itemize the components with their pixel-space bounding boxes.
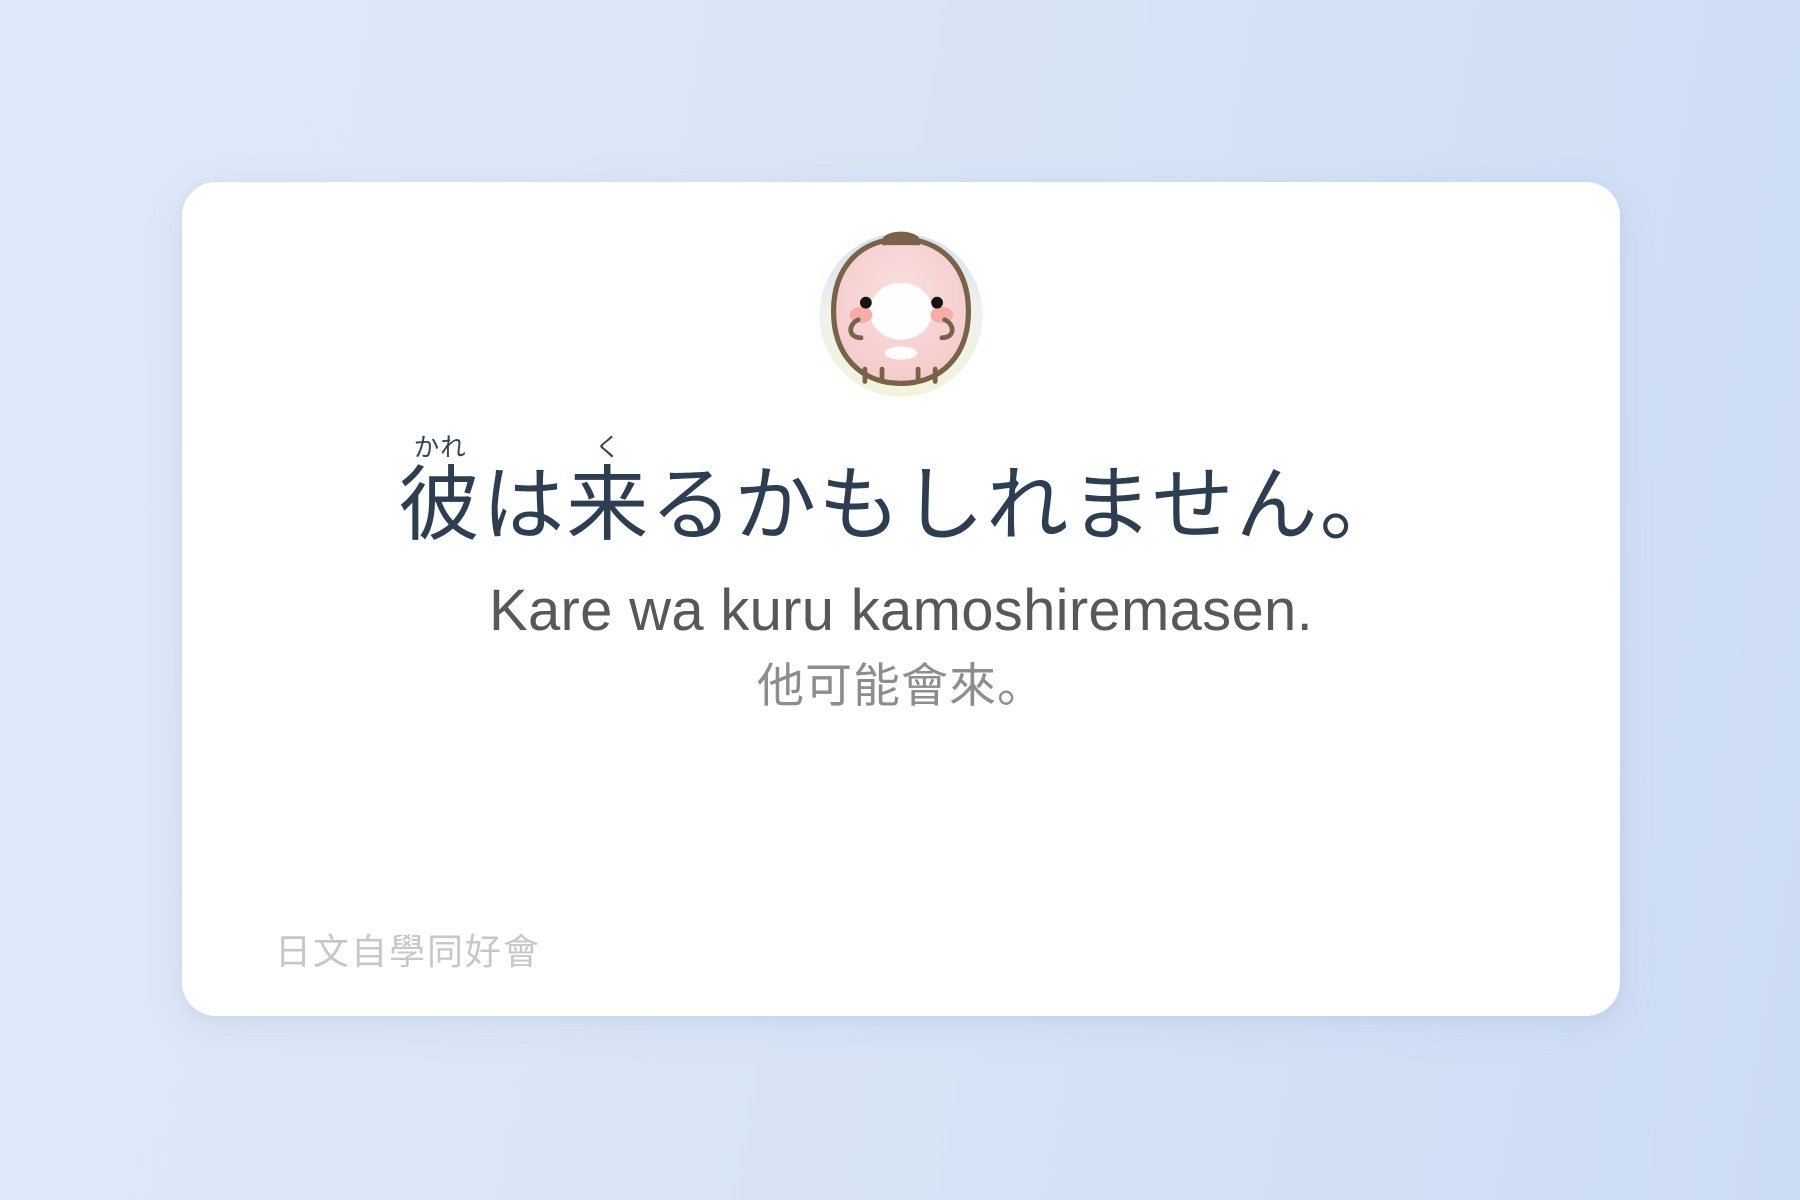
- mascot-container: [182, 220, 1620, 410]
- flashcard: 彼かれは来くるかもしれません。 Kare wa kuru kamoshirema…: [182, 182, 1620, 1016]
- pink-blob-mascot-icon: [806, 220, 996, 410]
- ruby-ku: 来く: [566, 460, 650, 551]
- romaji-reading: Kare wa kuru kamoshiremasen.: [182, 582, 1620, 640]
- ruby-kare: 彼かれ: [398, 460, 482, 551]
- translation-text: 他可能會來。: [182, 662, 1620, 709]
- kanji-kare: 彼: [398, 460, 482, 551]
- sentence-token-1: 彼かれ: [398, 434, 482, 547]
- footer-watermark: 日文自學同好會: [275, 934, 541, 970]
- furigana-ku: く: [566, 434, 650, 462]
- sentence-token-2: は: [482, 465, 566, 547]
- flashcard-stage: 彼かれは来くるかもしれません。 Kare wa kuru kamoshirema…: [0, 0, 1800, 1200]
- furigana-kare: かれ: [398, 434, 482, 462]
- japanese-sentence: 彼かれは来くるかもしれません。: [182, 434, 1620, 547]
- sentence-token-3: 来く: [566, 434, 650, 547]
- sentence-token-4: るかもしれません。: [650, 465, 1404, 547]
- kanji-ku: 来: [566, 460, 650, 551]
